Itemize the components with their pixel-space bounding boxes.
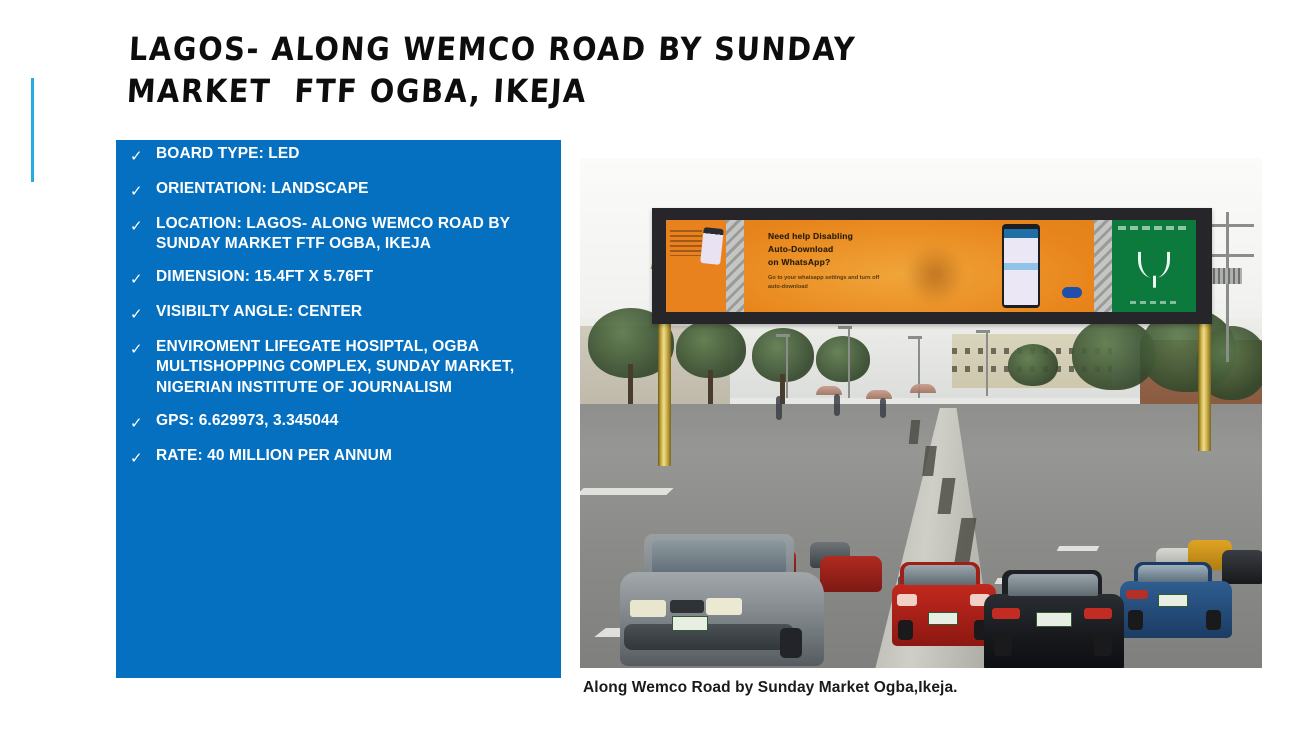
led-screen: Need help Disabling Auto-Download on Wha…	[744, 220, 1094, 312]
vehicle-body	[984, 594, 1124, 668]
page-title-line-1: LAGOS- ALONG WEMCO ROAD BY SUNDAY	[128, 28, 1170, 70]
vehicle-wheel	[1128, 610, 1143, 630]
check-icon: ✓	[130, 337, 156, 359]
vehicle-headlamp	[630, 600, 666, 617]
check-icon: ✓	[130, 302, 156, 324]
led-screen-glare	[905, 244, 965, 306]
vehicle-window	[1138, 565, 1208, 582]
road-sign-top-text	[1118, 226, 1190, 230]
check-icon: ✓	[130, 411, 156, 433]
pedestrian	[776, 396, 782, 420]
street-lamp-head	[838, 326, 852, 329]
list-item: ✓ ORIENTATION: LANDSCAPE	[130, 179, 551, 201]
street-lamp-post	[848, 326, 850, 398]
list-item: ✓ GPS: 6.629973, 3.345044	[130, 411, 551, 433]
list-item: ✓ LOCATION: LAGOS- ALONG WEMCO ROAD BY S…	[130, 214, 551, 254]
vehicle-licence-plate	[1036, 612, 1072, 627]
vehicle-headlamp	[706, 598, 742, 615]
ad-badge	[1062, 287, 1082, 298]
page-title-line-2: MARKET FTF OGBA, IKEJA	[126, 70, 1168, 112]
list-item: ✓ BOARD TYPE: LED	[130, 144, 551, 166]
list-item-label: BOARD TYPE: LED	[156, 144, 551, 164]
vehicle-lamp	[1126, 590, 1148, 599]
list-item-label: RATE: 40 MILLION PER ANNUM	[156, 446, 551, 466]
vehicle-lamp	[992, 608, 1020, 619]
check-icon: ✓	[130, 214, 156, 236]
vehicle-windshield	[652, 540, 786, 572]
vehicle-lamp	[1084, 608, 1112, 619]
vehicle-wheel	[1206, 610, 1221, 630]
ad-phone-mockup	[1002, 224, 1040, 308]
road-sign-bottom-text	[1130, 301, 1178, 304]
vehicle-bumper	[624, 624, 794, 650]
utility-equipment-box	[1208, 268, 1242, 284]
check-icon: ✓	[130, 267, 156, 289]
side-panel-text-block	[670, 230, 702, 256]
vehicle-lamp	[897, 594, 917, 606]
street-lamp-head	[976, 330, 990, 333]
vehicle-licence-plate	[672, 616, 708, 631]
page-title: LAGOS- ALONG WEMCO ROAD BY SUNDAY MARKET…	[126, 28, 1170, 112]
street-lamp-head	[908, 336, 922, 339]
check-icon: ✓	[130, 179, 156, 201]
side-panel-phone-graphic	[700, 227, 724, 265]
billboard-strut-right	[1094, 220, 1112, 312]
ad-headline-line-3: on WhatsApp?	[768, 256, 853, 269]
billboard-gantry: Need help Disabling Auto-Download on Wha…	[652, 208, 1212, 324]
street-lamp-head	[776, 334, 790, 337]
vehicle-wheel	[1094, 632, 1112, 656]
list-item-label: ORIENTATION: LANDSCAPE	[156, 179, 551, 199]
street-umbrella	[910, 384, 936, 393]
lane-marking	[1057, 546, 1100, 551]
tree	[1008, 344, 1058, 386]
details-panel: ✓ BOARD TYPE: LED ✓ ORIENTATION: LANDSCA…	[116, 140, 561, 678]
vehicle-wheel	[898, 620, 913, 640]
billboard-frame: Need help Disabling Auto-Download on Wha…	[666, 220, 1196, 312]
billboard-side-panel	[666, 220, 726, 312]
list-item: ✓ DIMENSION: 15.4FT X 5.76FT	[130, 267, 551, 289]
ad-subtext-line-2: auto-download	[768, 283, 879, 292]
street-umbrella	[866, 390, 892, 399]
list-item-label: GPS: 6.629973, 3.345044	[156, 411, 551, 431]
list-item-label: DIMENSION: 15.4FT X 5.76FT	[156, 267, 551, 287]
ad-headline-line-1: Need help Disabling	[768, 230, 853, 243]
vehicle-wheel	[994, 632, 1012, 656]
road-direction-sign	[1112, 220, 1196, 312]
check-icon: ✓	[130, 144, 156, 166]
billboard-strut-left	[726, 220, 744, 312]
photo-caption: Along Wemco Road by Sunday Market Ogba,I…	[583, 679, 958, 697]
vehicle-licence-plate	[1158, 594, 1188, 607]
ad-phone-screen	[1004, 229, 1038, 305]
ad-subtext-line-1: Go to your whatsapp settings and turn of…	[768, 274, 879, 283]
list-item: ✓ VISIBILTY ANGLE: CENTER	[130, 302, 551, 324]
vehicle-wheel	[780, 628, 802, 658]
details-bullet-list: ✓ BOARD TYPE: LED ✓ ORIENTATION: LANDSCA…	[130, 144, 551, 481]
vehicle-grille	[670, 600, 704, 613]
vehicle-body	[820, 556, 882, 592]
vehicle	[892, 562, 996, 646]
vehicle-licence-plate	[928, 612, 958, 625]
title-accent-bar	[31, 78, 34, 182]
pedestrian	[834, 394, 840, 416]
site-photo-scene: Need help Disabling Auto-Download on Wha…	[580, 158, 1262, 668]
check-icon: ✓	[130, 446, 156, 468]
list-item-label: LOCATION: LAGOS- ALONG WEMCO ROAD BY SUN…	[156, 214, 551, 254]
list-item-label: VISIBILTY ANGLE: CENTER	[156, 302, 551, 322]
ad-headline: Need help Disabling Auto-Download on Wha…	[768, 230, 853, 268]
list-item: ✓ ENVIROMENT LIFEGATE HOSIPTAL, OGBA MUL…	[130, 337, 551, 397]
vehicle-window	[1008, 574, 1098, 596]
street-lamp-post	[786, 334, 788, 398]
vehicle	[984, 570, 1124, 668]
ad-subtext: Go to your whatsapp settings and turn of…	[768, 274, 879, 292]
ad-headline-line-2: Auto-Download	[768, 243, 853, 256]
junction-arrow-icon	[1138, 252, 1170, 278]
utility-mast	[1226, 212, 1229, 362]
list-item: ✓ RATE: 40 MILLION PER ANNUM	[130, 446, 551, 468]
vehicle	[820, 556, 882, 592]
vehicle-window	[904, 565, 976, 585]
lane-marking	[580, 488, 674, 495]
site-photo: Need help Disabling Auto-Download on Wha…	[580, 158, 1262, 668]
vehicle	[1120, 562, 1232, 638]
vehicle-foreground	[620, 536, 824, 666]
street-lamp-post	[986, 330, 988, 396]
tree	[816, 336, 870, 382]
pedestrian	[880, 398, 886, 418]
list-item-label: ENVIROMENT LIFEGATE HOSIPTAL, OGBA MULTI…	[156, 337, 551, 397]
